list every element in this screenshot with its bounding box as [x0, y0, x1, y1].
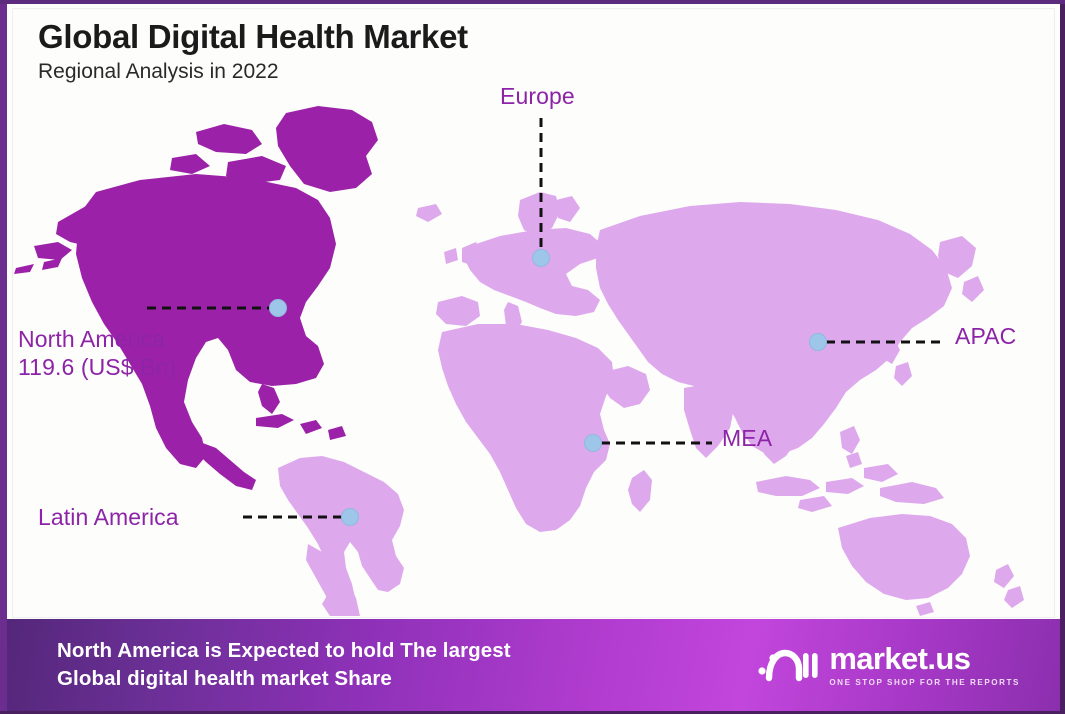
region-label-mea: MEA — [722, 424, 772, 452]
map-marker-north-america[interactable] — [269, 299, 287, 317]
page-subtitle: Regional Analysis in 2022 — [38, 60, 468, 84]
footer-banner: North America is Expected to hold The la… — [7, 619, 1060, 711]
region-label-north-america: North America 119.6 (US$ Bn) — [18, 325, 176, 381]
market-us-logo[interactable]: market.us ONE STOP SHOP FOR THE REPORTS — [757, 641, 1042, 690]
footer-callout-text: North America is Expected to hold The la… — [57, 637, 511, 692]
logo-tagline: ONE STOP SHOP FOR THE REPORTS — [829, 678, 1020, 687]
frame-border-right — [1060, 0, 1065, 714]
map-marker-latin-america[interactable] — [341, 508, 359, 526]
region-label-europe: Europe — [500, 82, 575, 110]
logo-brand-name: market.us — [829, 643, 970, 674]
map-marker-europe[interactable] — [532, 249, 550, 267]
page-title: Global Digital Health Market — [38, 18, 468, 56]
map-marker-apac[interactable] — [809, 333, 827, 351]
region-label-latin-america: Latin America — [38, 503, 179, 531]
frame-border-top — [0, 0, 1065, 4]
frame-border-left — [0, 0, 7, 714]
header: Global Digital Health Market Regional An… — [38, 18, 468, 84]
region-label-apac: APAC — [955, 322, 1016, 350]
infographic-canvas: Global Digital Health Market Regional An… — [0, 0, 1065, 714]
market-us-logo-mark-icon — [757, 641, 819, 690]
map-marker-mea[interactable] — [584, 434, 602, 452]
market-us-logo-text: market.us ONE STOP SHOP FOR THE REPORTS — [829, 643, 1020, 687]
